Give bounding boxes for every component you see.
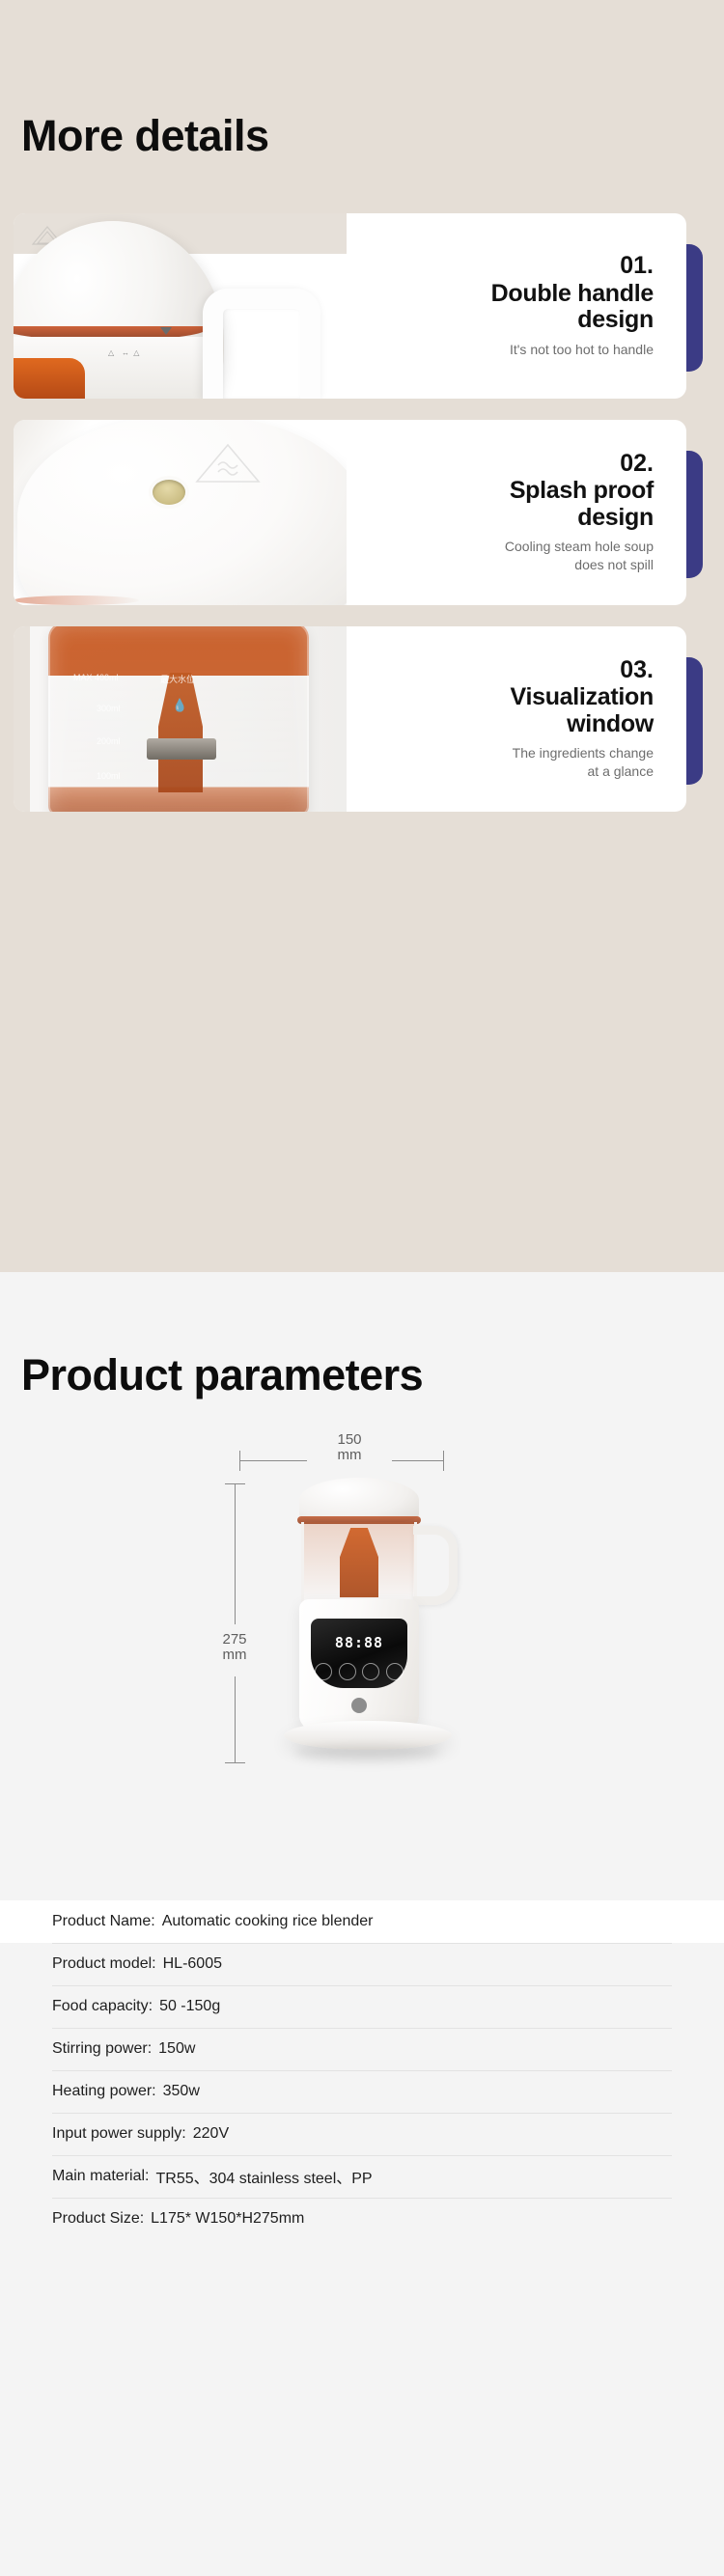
bear-brand-logo-icon	[351, 1698, 367, 1713]
table-row: Product Name: Automatic cooking rice ble…	[0, 1900, 724, 1943]
card-body: MAX 400ml 最大水位 300ml 200ml 100ml 💧 03. V…	[14, 626, 686, 812]
card-body: 01. Double handledesign It's not too hot…	[14, 213, 686, 399]
spec-label: Stirring power:	[52, 2040, 152, 2058]
detail-cards-list: 01. Double handledesign It's not too hot…	[0, 213, 724, 812]
height-value: 275	[203, 1632, 266, 1648]
width-value: 150	[311, 1432, 388, 1448]
appliance-drop-shadow	[295, 1746, 440, 1759]
table-row: Stirring power: 150w	[0, 2028, 724, 2070]
base-highlight	[14, 596, 139, 605]
height-unit: mm	[203, 1648, 266, 1663]
scale-max-label: MAX 400ml	[73, 673, 119, 682]
table-row: Product model: HL-6005	[0, 1943, 724, 1985]
spec-value: TR55、304 stainless steel、PP	[155, 2165, 372, 2188]
spec-label: Food capacity:	[52, 1998, 153, 2015]
detail-card-03[interactable]: MAX 400ml 最大水位 300ml 200ml 100ml 💧 03. V…	[0, 626, 703, 812]
more-details-title: More details	[0, 0, 724, 157]
led-display: 88:88	[311, 1634, 407, 1651]
spec-label: Heating power:	[52, 2083, 156, 2100]
card-description: The ingredients changeat a glance	[513, 744, 654, 781]
width-unit: mm	[311, 1448, 388, 1463]
table-row: Main material: TR55、304 stainless steel、…	[0, 2155, 724, 2198]
card-text-block: 01. Double handledesign It's not too hot…	[347, 213, 686, 399]
card-number: 01.	[620, 253, 654, 278]
card-body: 02. Splash proofdesign Cooling steam hol…	[14, 420, 686, 605]
detail-card-01[interactable]: 01. Double handledesign It's not too hot…	[0, 213, 703, 399]
card-text-block: 02. Splash proofdesign Cooling steam hol…	[347, 420, 686, 605]
more-details-section: More details	[0, 0, 724, 1272]
card-heading: Double handledesign	[491, 281, 654, 334]
lid-dome-shape	[17, 420, 347, 605]
scale-300ml-label: 300ml	[97, 704, 121, 713]
card-description: It's not too hot to handle	[510, 341, 654, 359]
table-row: Heating power: 350w	[0, 2070, 724, 2113]
height-dimension-label: 275 mm	[203, 1632, 266, 1663]
dimension-diagram: 150 mm 275 mm 88:88	[0, 1418, 724, 1900]
blender-lid-with-handle-photo	[14, 213, 347, 399]
spec-label: Main material:	[52, 2168, 149, 2185]
control-button-1[interactable]	[315, 1663, 332, 1680]
scale-max-label-cn: 最大水位	[160, 673, 195, 685]
card-description: Cooling steam hole soupdoes not spill	[505, 538, 654, 574]
lid-steam-vent-photo	[14, 420, 347, 605]
appliance-illustration: 88:88	[276, 1478, 459, 1777]
product-parameters-title: Product parameters	[0, 1272, 724, 1397]
steam-vent-hole	[153, 480, 185, 505]
card-number: 02.	[620, 451, 654, 476]
spec-label: Product Size:	[52, 2210, 144, 2228]
card-heading: Splash proofdesign	[510, 478, 654, 531]
spec-label: Input power supply:	[52, 2125, 186, 2143]
scale-200ml-label: 200ml	[97, 736, 121, 746]
table-row: Input power supply: 220V	[0, 2113, 724, 2155]
spec-value: 50 -150g	[159, 1998, 220, 2015]
control-button-4[interactable]	[386, 1663, 404, 1680]
spec-value: 220V	[193, 2125, 229, 2143]
height-dimension-line	[235, 1483, 236, 1763]
transparent-measuring-jar-photo: MAX 400ml 最大水位 300ml 200ml 100ml 💧	[14, 626, 347, 812]
alignment-arrow-icon	[160, 327, 172, 335]
spec-value: L175* W150*H275mm	[151, 2210, 304, 2228]
control-button-row[interactable]	[315, 1663, 404, 1680]
appliance-handle	[413, 1526, 458, 1605]
table-row: Food capacity: 50 -150g	[0, 1985, 724, 2028]
spec-label: Product model:	[52, 1955, 156, 1973]
hot-surface-warning-icon	[193, 441, 263, 485]
detail-card-02[interactable]: 02. Splash proofdesign Cooling steam hol…	[0, 420, 703, 605]
scale-100ml-label: 100ml	[97, 771, 121, 781]
card-number: 03.	[620, 657, 654, 682]
spec-value: HL-6005	[163, 1955, 222, 1973]
product-parameters-section: Product parameters 150 mm 275 mm 88:88	[0, 1272, 724, 2246]
control-button-3[interactable]	[362, 1663, 379, 1680]
spec-label: Product Name:	[52, 1913, 155, 1930]
amber-contents	[14, 358, 85, 399]
volume-scale-markings: MAX 400ml 最大水位 300ml 200ml 100ml	[14, 626, 347, 812]
card-text-block: 03. Visualizationwindow The ingredients …	[347, 626, 686, 812]
handle-shape	[203, 289, 320, 399]
water-drop-icon: 💧	[172, 698, 187, 713]
table-row: Product Size: L175* W150*H275mm	[0, 2198, 724, 2240]
control-button-2[interactable]	[339, 1663, 356, 1680]
specifications-table: Product Name: Automatic cooking rice ble…	[0, 1900, 724, 2246]
spec-value: Automatic cooking rice blender	[162, 1913, 374, 1930]
card-heading: Visualizationwindow	[511, 684, 654, 737]
width-dimension-label: 150 mm	[311, 1432, 388, 1463]
spec-value: 350w	[163, 2083, 200, 2100]
spec-value: 150w	[158, 2040, 195, 2058]
lock-unlock-marking	[108, 348, 168, 364]
